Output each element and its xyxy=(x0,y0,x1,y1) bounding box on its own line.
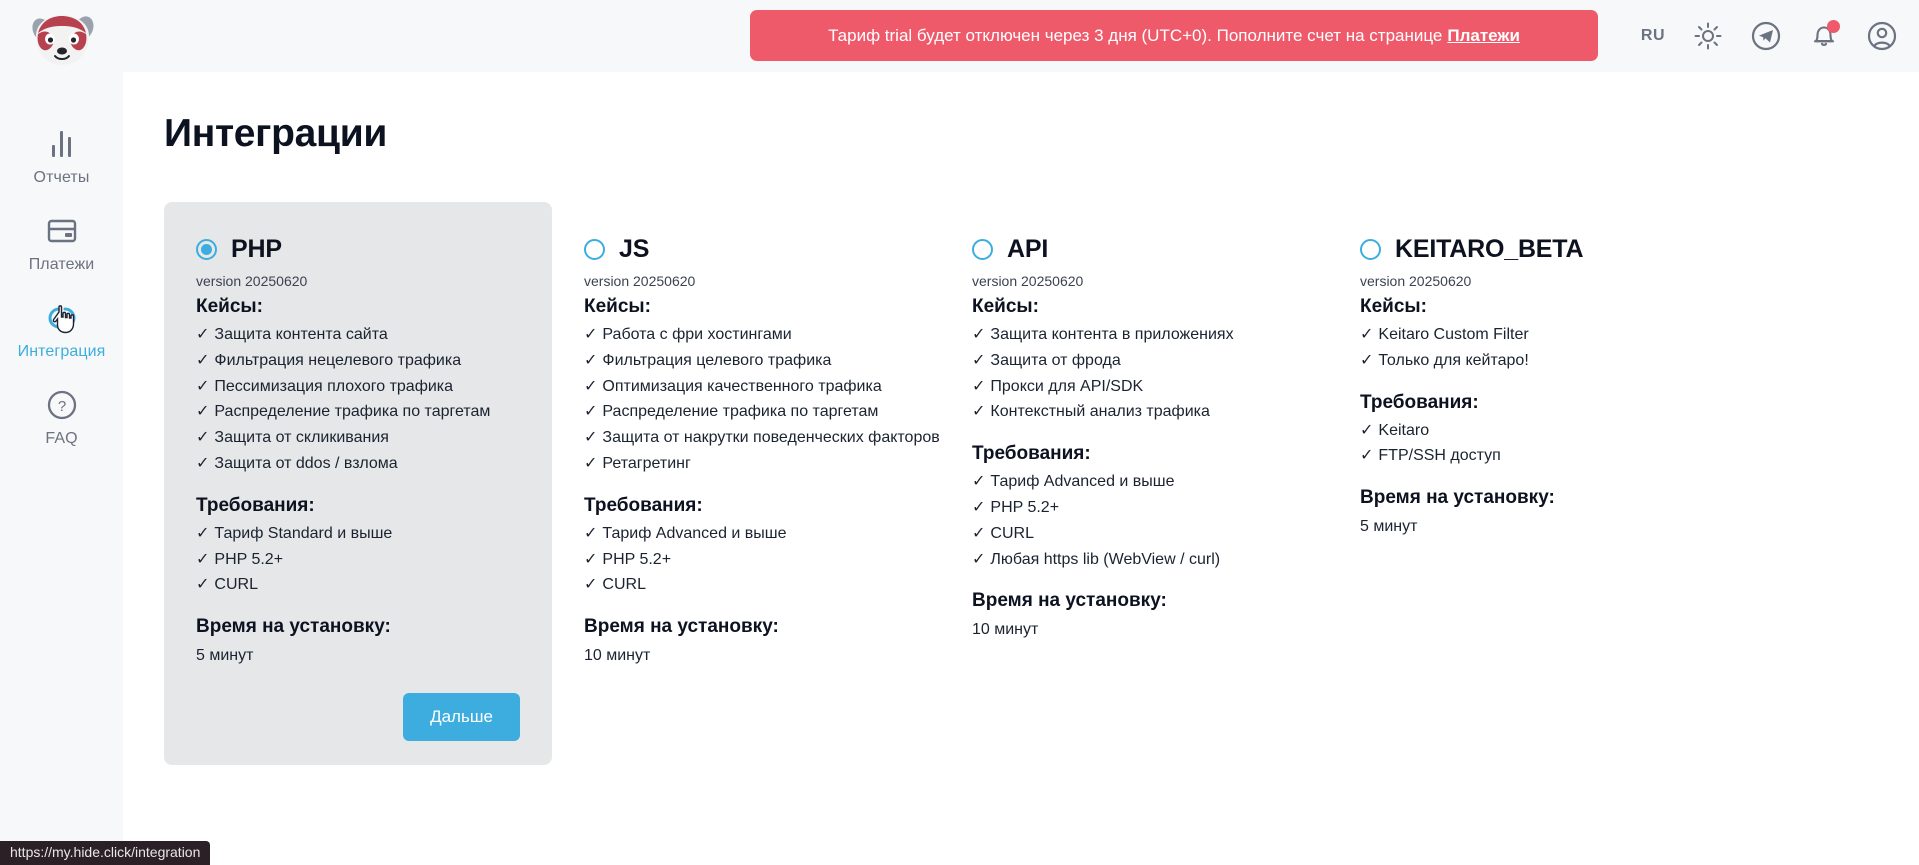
cases-heading: Кейсы: xyxy=(972,296,1296,318)
check-icon: ✓ xyxy=(972,403,985,420)
card-version: version 20250620 xyxy=(196,273,520,289)
check-icon: ✓ xyxy=(196,403,209,420)
check-icon: ✓ xyxy=(196,429,209,446)
check-icon: ✓ xyxy=(196,455,209,472)
card-header: API xyxy=(972,234,1296,264)
requirement-item: ✓CURL xyxy=(584,577,908,594)
check-icon: ✓ xyxy=(584,326,597,343)
case-item: ✓Контекстный анализ трафика xyxy=(972,404,1296,421)
requirement-item: ✓PHP 5.2+ xyxy=(972,500,1296,517)
check-icon: ✓ xyxy=(972,499,985,516)
header-actions: RU xyxy=(1641,0,1897,72)
case-label: Прокси для API/SDK xyxy=(990,378,1143,395)
case-item: ✓Только для кейтаро! xyxy=(1360,353,1684,370)
check-icon: ✓ xyxy=(972,326,985,343)
sidebar-item-label: Отчеты xyxy=(34,169,90,187)
next-button[interactable]: Дальше xyxy=(403,693,520,741)
check-icon: ✓ xyxy=(972,352,985,369)
check-icon: ✓ xyxy=(584,525,597,542)
main-content: Интеграции PHPversion 20250620Кейсы:✓Защ… xyxy=(123,72,1919,865)
requirement-item: ✓FTP/SSH доступ xyxy=(1360,448,1684,465)
install-time-heading: Время на установку: xyxy=(972,590,1296,612)
sun-icon[interactable] xyxy=(1693,21,1723,51)
case-item: ✓Защита от ddos / взлома xyxy=(196,456,520,473)
case-label: Оптимизация качественного трафика xyxy=(602,378,881,395)
case-label: Контекстный анализ трафика xyxy=(990,403,1210,420)
card-title: PHP xyxy=(231,235,282,264)
card-header: JS xyxy=(584,234,908,264)
check-icon: ✓ xyxy=(584,403,597,420)
check-icon: ✓ xyxy=(196,576,209,593)
sidebar-item-integration[interactable]: Интеграция xyxy=(0,286,123,373)
case-label: Пессимизация плохого трафика xyxy=(214,378,453,395)
card-title: API xyxy=(1007,235,1048,264)
case-label: Защита контента сайта xyxy=(214,326,387,343)
sidebar-item-faq[interactable]: ? FAQ xyxy=(0,373,123,460)
requirements-heading: Требования: xyxy=(972,443,1296,465)
install-time-heading: Время на установку: xyxy=(584,616,908,638)
status-bar-url: https://my.hide.click/integration xyxy=(0,841,210,865)
requirement-item: ✓Любая https lib (WebView / curl) xyxy=(972,552,1296,569)
case-label: Распределение трафика по таргетам xyxy=(602,403,878,420)
case-item: ✓Распределение трафика по таргетам xyxy=(584,404,908,421)
case-label: Защита от фрода xyxy=(990,352,1120,369)
requirement-label: Тариф Advanced и выше xyxy=(990,473,1174,490)
app-root: Отчеты Платежи xyxy=(0,0,1919,865)
card-title: KEITARO_BETA xyxy=(1395,235,1583,264)
top-header: Тариф trial будет отключен через 3 дня (… xyxy=(123,0,1919,72)
requirement-label: PHP 5.2+ xyxy=(214,551,283,568)
card-version: version 20250620 xyxy=(584,273,908,289)
case-item: ✓Ретагретинг xyxy=(584,456,908,473)
sidebar-item-payments[interactable]: Платежи xyxy=(0,199,123,286)
bar-chart-icon xyxy=(44,126,80,162)
card-header: PHP xyxy=(196,234,520,264)
case-item: ✓Защита от скликивания xyxy=(196,430,520,447)
trial-alert-banner: Тариф trial будет отключен через 3 дня (… xyxy=(750,10,1598,61)
sidebar: Отчеты Платежи xyxy=(0,0,123,865)
case-item: ✓Защита от накрутки поведенческих фактор… xyxy=(584,430,908,447)
install-time-heading: Время на установку: xyxy=(1360,487,1684,509)
user-account-icon[interactable] xyxy=(1867,21,1897,51)
requirements-heading: Требования: xyxy=(196,495,520,517)
requirement-label: CURL xyxy=(602,576,646,593)
requirement-item: ✓CURL xyxy=(196,577,520,594)
install-time-value: 5 минут xyxy=(1360,518,1684,536)
sidebar-nav: Отчеты Платежи xyxy=(0,112,123,460)
sidebar-item-label: Платежи xyxy=(29,256,95,274)
svg-text:?: ? xyxy=(57,398,65,415)
requirement-item: ✓Тариф Advanced и выше xyxy=(584,526,908,543)
case-item: ✓Keitaro Custom Filter xyxy=(1360,327,1684,344)
cases-heading: Кейсы: xyxy=(196,296,520,318)
case-label: Защита контента в приложениях xyxy=(990,326,1233,343)
check-icon: ✓ xyxy=(584,429,597,446)
check-icon: ✓ xyxy=(1360,422,1373,439)
requirement-label: Тариф Advanced и выше xyxy=(602,525,786,542)
install-time-value: 5 минут xyxy=(196,647,520,665)
check-icon: ✓ xyxy=(972,551,985,568)
requirement-label: PHP 5.2+ xyxy=(602,551,671,568)
case-label: Фильтрация целевого трафика xyxy=(602,352,831,369)
radio-api[interactable] xyxy=(972,239,993,260)
requirement-item: ✓PHP 5.2+ xyxy=(196,552,520,569)
install-time-value: 10 минут xyxy=(972,621,1296,639)
case-item: ✓Защита контента в приложениях xyxy=(972,327,1296,344)
raccoon-logo[interactable] xyxy=(28,10,96,70)
case-item: ✓Работа с фри хостингами xyxy=(584,327,908,344)
radio-keitaro_beta[interactable] xyxy=(1360,239,1381,260)
card-version: version 20250620 xyxy=(1360,273,1684,289)
card-version: version 20250620 xyxy=(972,273,1296,289)
case-item: ✓Пессимизация плохого трафика xyxy=(196,379,520,396)
requirement-label: CURL xyxy=(214,576,258,593)
integration-card-api[interactable]: APIversion 20250620Кейсы:✓Защита контент… xyxy=(940,202,1328,765)
check-icon: ✓ xyxy=(1360,447,1373,464)
requirement-label: FTP/SSH доступ xyxy=(1378,447,1500,464)
case-item: ✓Распределение трафика по таргетам xyxy=(196,404,520,421)
notification-badge xyxy=(1827,20,1840,33)
telegram-icon[interactable] xyxy=(1751,21,1781,51)
language-switcher[interactable]: RU xyxy=(1641,27,1665,45)
case-label: Keitaro Custom Filter xyxy=(1378,326,1528,343)
alert-payments-link[interactable]: Платежи xyxy=(1447,26,1520,46)
case-label: Работа с фри хостингами xyxy=(602,326,791,343)
check-icon: ✓ xyxy=(584,551,597,568)
bell-icon[interactable] xyxy=(1809,21,1839,51)
install-time-value: 10 минут xyxy=(584,647,908,665)
case-label: Распределение трафика по таргетам xyxy=(214,403,490,420)
requirement-item: ✓Тариф Advanced и выше xyxy=(972,474,1296,491)
case-item: ✓Фильтрация целевого трафика xyxy=(584,353,908,370)
requirement-label: Тариф Standard и выше xyxy=(214,525,392,542)
check-icon: ✓ xyxy=(972,525,985,542)
case-item: ✓Защита контента сайта xyxy=(196,327,520,344)
check-icon: ✓ xyxy=(584,378,597,395)
credit-card-icon xyxy=(44,213,80,249)
requirement-item: ✓Тариф Standard и выше xyxy=(196,526,520,543)
radio-js[interactable] xyxy=(584,239,605,260)
case-label: Защита от скликивания xyxy=(214,429,389,446)
check-icon: ✓ xyxy=(196,525,209,542)
case-label: Ретагретинг xyxy=(602,455,690,472)
check-icon: ✓ xyxy=(584,576,597,593)
case-item: ✓Защита от фрода xyxy=(972,353,1296,370)
sidebar-item-label: Интеграция xyxy=(18,343,106,361)
link-integration-icon xyxy=(44,300,80,336)
requirements-heading: Требования: xyxy=(1360,392,1684,414)
check-icon: ✓ xyxy=(196,378,209,395)
question-circle-icon: ? xyxy=(44,387,80,423)
requirement-label: Keitaro xyxy=(1378,422,1429,439)
check-icon: ✓ xyxy=(972,473,985,490)
requirement-label: CURL xyxy=(990,525,1034,542)
case-label: Фильтрация нецелевого трафика xyxy=(214,352,461,369)
requirement-item: ✓Keitaro xyxy=(1360,423,1684,440)
case-item: ✓Фильтрация нецелевого трафика xyxy=(196,353,520,370)
check-icon: ✓ xyxy=(584,352,597,369)
case-item: ✓Оптимизация качественного трафика xyxy=(584,379,908,396)
integration-card-js[interactable]: JSversion 20250620Кейсы:✓Работа с фри хо… xyxy=(552,202,940,765)
check-icon: ✓ xyxy=(196,551,209,568)
requirement-label: Любая https lib (WebView / curl) xyxy=(990,551,1220,568)
alert-text: Тариф trial будет отключен через 3 дня (… xyxy=(828,26,1442,46)
requirement-label: PHP 5.2+ xyxy=(990,499,1059,516)
case-label: Защита от ddos / взлома xyxy=(214,455,397,472)
check-icon: ✓ xyxy=(1360,352,1373,369)
cases-heading: Кейсы: xyxy=(1360,296,1684,318)
case-label: Только для кейтаро! xyxy=(1378,352,1528,369)
integration-card-php[interactable]: PHPversion 20250620Кейсы:✓Защита контент… xyxy=(164,202,552,765)
check-icon: ✓ xyxy=(196,352,209,369)
integration-cards: PHPversion 20250620Кейсы:✓Защита контент… xyxy=(164,202,1919,765)
page-title: Интеграции xyxy=(164,112,1919,156)
check-icon: ✓ xyxy=(972,378,985,395)
requirement-item: ✓PHP 5.2+ xyxy=(584,552,908,569)
requirement-item: ✓CURL xyxy=(972,526,1296,543)
radio-php[interactable] xyxy=(196,239,217,260)
sidebar-item-label: FAQ xyxy=(45,430,77,448)
card-header: KEITARO_BETA xyxy=(1360,234,1684,264)
install-time-heading: Время на установку: xyxy=(196,616,520,638)
integration-card-keitaro_beta[interactable]: KEITARO_BETAversion 20250620Кейсы:✓Keita… xyxy=(1328,202,1716,765)
requirements-heading: Требования: xyxy=(584,495,908,517)
card-title: JS xyxy=(619,235,649,264)
sidebar-item-reports[interactable]: Отчеты xyxy=(0,112,123,199)
check-icon: ✓ xyxy=(1360,326,1373,343)
cases-heading: Кейсы: xyxy=(584,296,908,318)
check-icon: ✓ xyxy=(584,455,597,472)
check-icon: ✓ xyxy=(196,326,209,343)
case-item: ✓Прокси для API/SDK xyxy=(972,379,1296,396)
case-label: Защита от накрутки поведенческих факторо… xyxy=(602,429,939,446)
